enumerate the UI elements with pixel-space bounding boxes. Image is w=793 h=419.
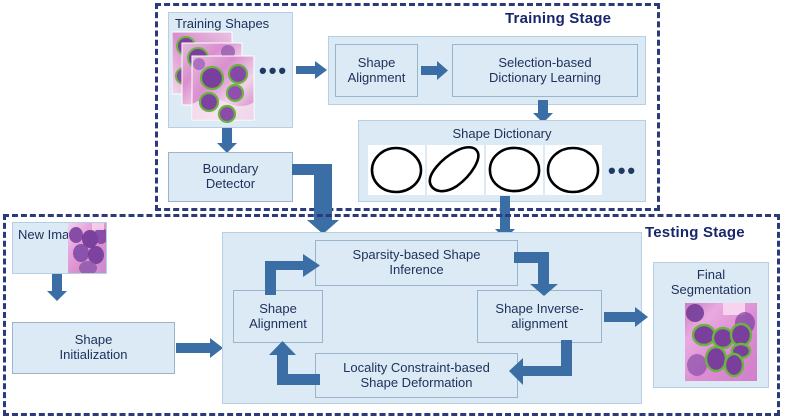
arrow-alignment-to-sparsity: [265, 251, 321, 295]
shape-dictionary-title: Shape Dictionary: [358, 126, 646, 141]
histology-input-image: [68, 223, 106, 273]
sparsity-inference-line2: Inference: [350, 263, 484, 278]
training-shapes-label: Training Shapes: [175, 16, 269, 31]
histology-cell-stack-image: [172, 30, 257, 125]
final-segmentation-label: Final Segmentation: [653, 268, 769, 298]
arrow-deformation-to-alignment: [265, 341, 321, 386]
training-shape-alignment-line2: Alignment: [345, 71, 409, 86]
testing-shape-alignment-line2: Alignment: [246, 317, 310, 332]
sparsity-inference-line1: Sparsity-based Shape: [350, 248, 484, 263]
shape-deformation-line2: Shape Deformation: [340, 376, 493, 391]
dictionary-learning-line1: Selection-based: [486, 56, 604, 71]
boundary-detector-line1: Boundary: [200, 162, 262, 177]
shape-inverse-alignment-line2: alignment: [492, 317, 586, 332]
shape-dictionary-atom-4: [545, 145, 602, 195]
testing-shape-alignment-line1: Shape: [246, 302, 310, 317]
boundary-detector-line2: Detector: [200, 177, 262, 192]
shape-dictionary-atom-3: [486, 145, 543, 195]
sparsity-inference-box[interactable]: Sparsity-based Shape Inference: [315, 240, 518, 286]
shape-initialization-line1: Shape: [57, 333, 131, 348]
testing-shape-alignment-box[interactable]: Shape Alignment: [233, 290, 323, 343]
training-shape-alignment-line1: Shape: [345, 56, 409, 71]
shape-dictionary-atom-2: [427, 145, 484, 195]
shape-initialization-line2: Initialization: [57, 348, 131, 363]
final-segmentation-line1: Final: [697, 267, 725, 282]
arrow-shapes-to-boundary-detector: [216, 128, 238, 154]
arrow-newimage-to-init: [46, 274, 68, 302]
arrow-inverse-to-deformation: [509, 340, 573, 386]
histology-segmented-image: [685, 303, 757, 381]
shape-dictionary-ellipsis: •••: [608, 160, 637, 182]
arrow-alignment-to-dictionary-learning: [421, 61, 449, 80]
arrow-init-to-loop: [176, 338, 224, 358]
shape-dictionary-atom-1: [368, 145, 425, 195]
testing-stage-title: Testing Stage: [645, 224, 745, 241]
arrow-loop-to-final: [604, 307, 649, 327]
arrow-shapes-to-alignment: [296, 60, 328, 80]
shape-inverse-alignment-line1: Shape Inverse-: [492, 302, 586, 317]
shape-inverse-alignment-box[interactable]: Shape Inverse- alignment: [477, 290, 602, 343]
shape-deformation-box[interactable]: Locality Constraint-based Shape Deformat…: [315, 353, 518, 398]
boundary-detector-box[interactable]: Boundary Detector: [168, 152, 293, 202]
training-shape-alignment-box[interactable]: Shape Alignment: [335, 44, 418, 97]
dictionary-learning-box[interactable]: Selection-based Dictionary Learning: [452, 44, 638, 97]
training-stage-title: Training Stage: [505, 10, 611, 27]
training-shapes-ellipsis: •••: [259, 60, 288, 82]
final-segmentation-line2: Segmentation: [671, 282, 751, 297]
shape-initialization-box[interactable]: Shape Initialization: [12, 322, 175, 374]
diagram-root: Training Stage Training Shapes: [0, 0, 793, 419]
arrow-sparsity-to-inverse: [514, 252, 562, 296]
dictionary-learning-line2: Dictionary Learning: [486, 71, 604, 86]
shape-deformation-line1: Locality Constraint-based: [340, 361, 493, 376]
